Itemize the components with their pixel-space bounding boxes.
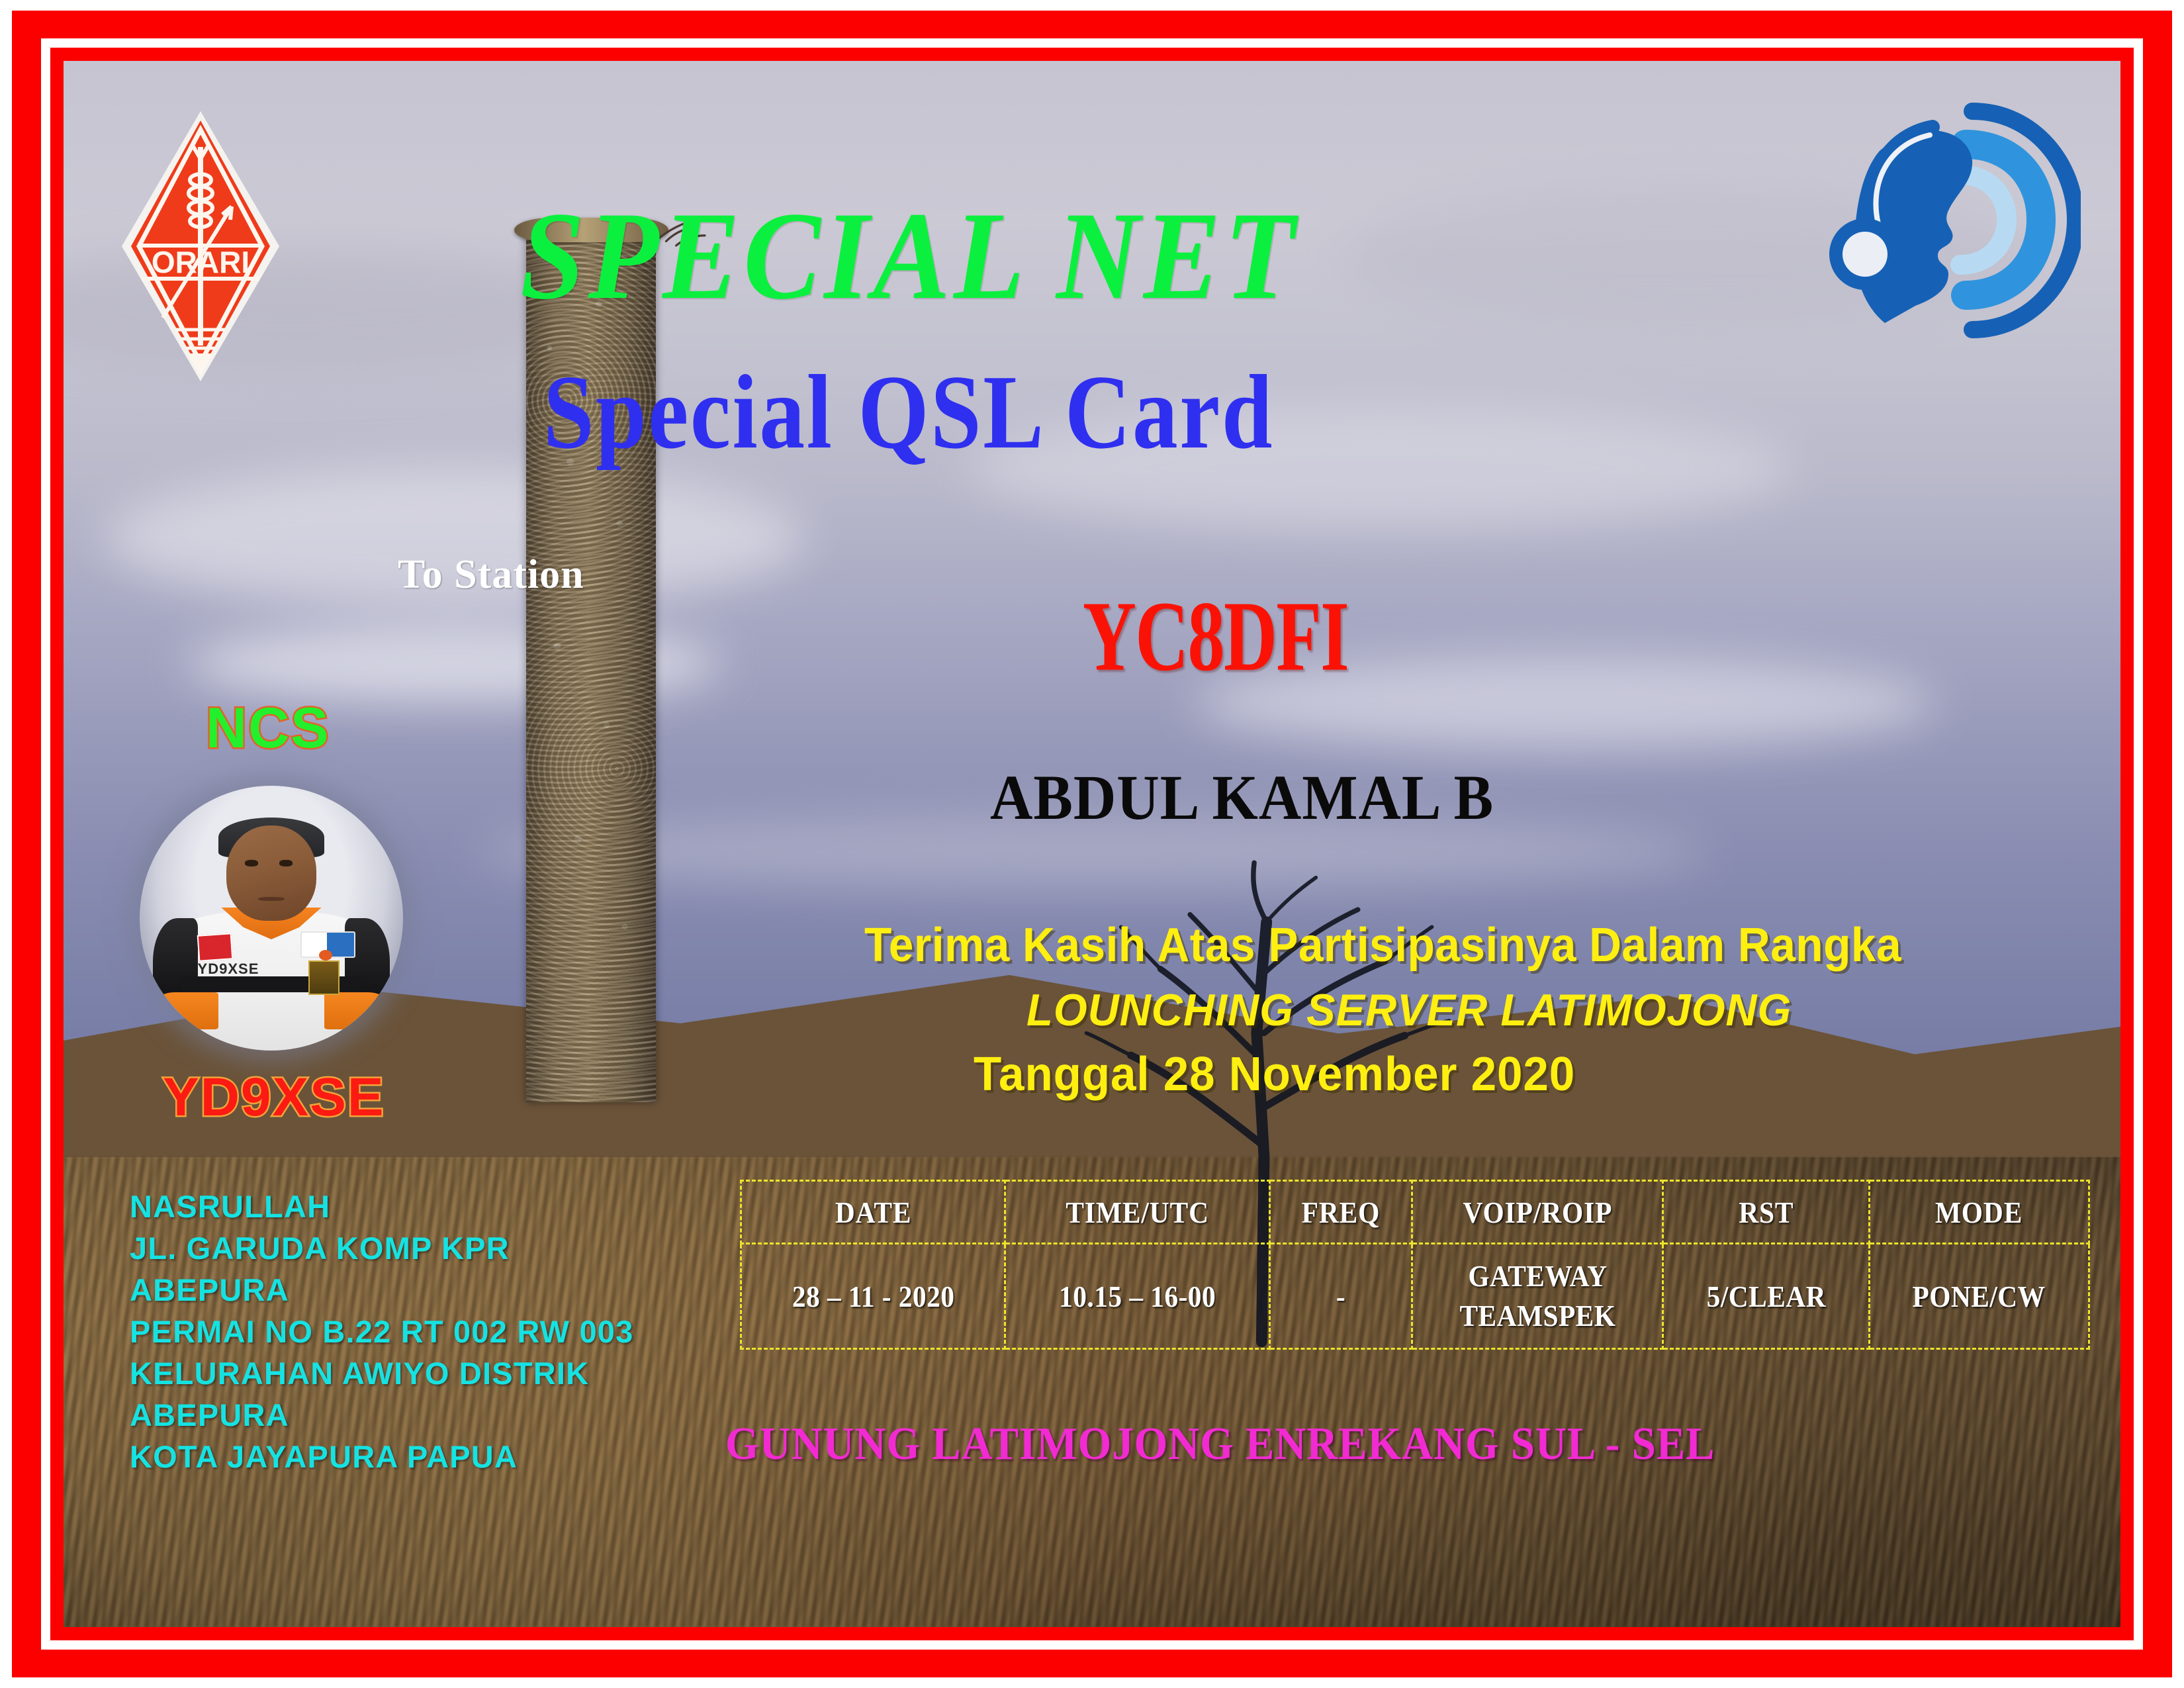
orari-logo-text: ORARI [152,245,250,279]
address-line: KOTA JAYAPURA PAPUA [130,1436,633,1478]
address-line: KELURAHAN AWIYO DISTRIK [130,1353,633,1395]
address-line: ABEPURA [130,1270,633,1311]
recipient-operator-name: ABDUL KAMAL B [990,766,1494,829]
ncs-label: NCS [206,700,330,757]
cell-mode: PONE/CW [1880,1244,2078,1349]
cell-voip-line1: GATEWAY [1426,1256,1649,1296]
cell-voip-line2: TEAMSPEK [1426,1296,1649,1336]
page-subtitle-special-qsl: Special QSL Card [543,359,1274,465]
column-header-voip-roip: VOIP/ROIP [1425,1181,1651,1244]
cell-rst: 5/CLEAR [1673,1244,1858,1349]
column-header-freq: FREQ [1277,1181,1405,1244]
uniform-callsign-tag: YD9XSE [198,961,259,978]
column-header-rst: RST [1673,1181,1858,1244]
location-line: GUNUNG LATIMOJONG ENREKANG SUL - SEL [725,1421,1715,1468]
table-header-row: DATE TIME/UTC FREQ VOIP/ROIP RST MODE [741,1181,2089,1244]
cell-voip-roip: GATEWAY TEAMSPEK [1425,1244,1651,1349]
thanks-line: Terima Kasih Atas Partisipasinya Dalam R… [864,921,1901,969]
page-title-special-net: SPECIAL NET [520,193,1298,319]
address-line: JL. GARUDA KOMP KPR [130,1228,633,1270]
ncs-callsign: YD9XSE [163,1070,385,1125]
orari-diamond-logo: ORARI [118,107,283,385]
cell-freq: - [1277,1244,1405,1349]
table-row: 28 – 11 - 2020 10.15 – 16-00 - GATEWAY T… [741,1244,2089,1349]
column-header-time: TIME/UTC [1019,1181,1256,1244]
address-line: PERMAI NO B.22 RT 002 RW 003 [130,1311,633,1353]
recipient-callsign: YC8DFI [1083,586,1348,686]
to-station-label: To Station [398,554,584,595]
column-header-date: DATE [754,1181,991,1244]
qsl-card: ORARI [0,0,2184,1688]
address-line: ABEPURA [130,1395,633,1436]
cell-date: 28 – 11 - 2020 [754,1244,991,1349]
column-header-mode: MODE [1880,1181,2078,1244]
sender-address-block: NASRULLAH JL. GARUDA KOMP KPR ABEPURA PE… [130,1186,633,1478]
headphone-profile-logo [1816,87,2081,352]
cell-time: 10.15 – 16-00 [1019,1244,1256,1349]
event-line: LOUNCHING SERVER LATIMOJONG [1026,988,1792,1033]
qso-log-table: DATE TIME/UTC FREQ VOIP/ROIP RST MODE 28… [740,1180,2090,1350]
background-photo: ORARI [64,61,2120,1627]
address-line: NASRULLAH [130,1186,633,1228]
event-date-line: Tanggal 28 November 2020 [974,1051,1575,1098]
ncs-operator-photo: YD9XSE [140,786,403,1051]
